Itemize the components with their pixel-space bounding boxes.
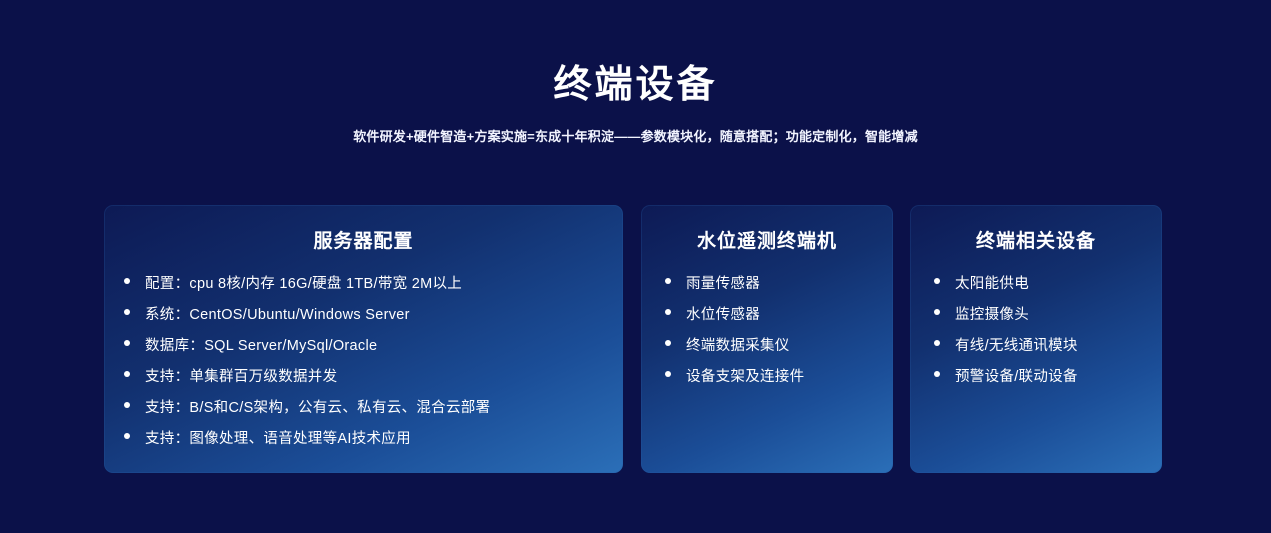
page-subtitle: 软件研发+硬件智造+方案实施=东成十年积淀——参数模块化，随意搭配；功能定制化，… (0, 108, 1271, 146)
card-title: 终端相关设备 (910, 205, 1162, 255)
list-item-label: 配置：cpu 8核/内存 16G/硬盘 1TB/带宽 2M以上 (145, 269, 462, 300)
page-title: 终端设备 (0, 0, 1271, 108)
list-item: 雨量传感器 (665, 269, 893, 300)
card-item-list: 太阳能供电 监控摄像头 有线/无线通讯模块 预警设备/联动设备 (910, 255, 1162, 393)
list-item-label: 监控摄像头 (955, 300, 1029, 331)
list-item: 太阳能供电 (934, 269, 1162, 300)
list-item-label: 数据库：SQL Server/MySql/Oracle (145, 331, 377, 362)
list-item-label: 设备支架及连接件 (686, 362, 804, 393)
list-item: 支持：B/S和C/S架构，公有云、私有云、混合云部署 (124, 393, 623, 424)
list-item-label: 有线/无线通讯模块 (955, 331, 1078, 362)
card-item-list: 配置：cpu 8核/内存 16G/硬盘 1TB/带宽 2M以上 系统：CentO… (104, 255, 623, 455)
card-item-list: 雨量传感器 水位传感器 终端数据采集仪 设备支架及连接件 (641, 255, 893, 393)
page-header: 终端设备 软件研发+硬件智造+方案实施=东成十年积淀——参数模块化，随意搭配；功… (0, 0, 1271, 146)
list-item-label: 水位传感器 (686, 300, 760, 331)
card-title: 服务器配置 (104, 205, 623, 255)
list-item-label: 支持：B/S和C/S架构，公有云、私有云、混合云部署 (145, 393, 490, 424)
bullet-icon (124, 402, 130, 408)
bullet-icon (124, 340, 130, 346)
bullet-icon (665, 371, 671, 377)
list-item: 支持：图像处理、语音处理等AI技术应用 (124, 424, 623, 455)
page-root: 终端设备 软件研发+硬件智造+方案实施=东成十年积淀——参数模块化，随意搭配；功… (0, 0, 1271, 533)
bullet-icon (665, 309, 671, 315)
list-item: 支持：单集群百万级数据并发 (124, 362, 623, 393)
list-item-label: 预警设备/联动设备 (955, 362, 1078, 393)
bullet-icon (934, 371, 940, 377)
bullet-icon (934, 309, 940, 315)
bullet-icon (934, 340, 940, 346)
list-item-label: 支持：单集群百万级数据并发 (145, 362, 337, 393)
bullet-icon (934, 278, 940, 284)
list-item-label: 支持：图像处理、语音处理等AI技术应用 (145, 424, 411, 455)
card-terminal-accessories[interactable]: 终端相关设备 太阳能供电 监控摄像头 有线/无线通讯模块 预警设备/联动设备 (910, 205, 1162, 473)
bullet-icon (124, 278, 130, 284)
list-item: 终端数据采集仪 (665, 331, 893, 362)
list-item-label: 终端数据采集仪 (686, 331, 790, 362)
list-item: 系统：CentOS/Ubuntu/Windows Server (124, 300, 623, 331)
card-water-level-terminal[interactable]: 水位遥测终端机 雨量传感器 水位传感器 终端数据采集仪 设备支架及连接件 (641, 205, 893, 473)
list-item: 数据库：SQL Server/MySql/Oracle (124, 331, 623, 362)
list-item: 预警设备/联动设备 (934, 362, 1162, 393)
list-item-label: 系统：CentOS/Ubuntu/Windows Server (145, 300, 410, 331)
list-item-label: 太阳能供电 (955, 269, 1029, 300)
list-item: 水位传感器 (665, 300, 893, 331)
list-item: 监控摄像头 (934, 300, 1162, 331)
list-item-label: 雨量传感器 (686, 269, 760, 300)
bullet-icon (665, 340, 671, 346)
bullet-icon (124, 433, 130, 439)
bullet-icon (124, 309, 130, 315)
card-server-configuration[interactable]: 服务器配置 配置：cpu 8核/内存 16G/硬盘 1TB/带宽 2M以上 系统… (104, 205, 623, 473)
feature-card-row: 服务器配置 配置：cpu 8核/内存 16G/硬盘 1TB/带宽 2M以上 系统… (104, 205, 1166, 473)
bullet-icon (124, 371, 130, 377)
list-item: 有线/无线通讯模块 (934, 331, 1162, 362)
list-item: 设备支架及连接件 (665, 362, 893, 393)
list-item: 配置：cpu 8核/内存 16G/硬盘 1TB/带宽 2M以上 (124, 269, 623, 300)
bullet-icon (665, 278, 671, 284)
card-title: 水位遥测终端机 (641, 205, 893, 255)
